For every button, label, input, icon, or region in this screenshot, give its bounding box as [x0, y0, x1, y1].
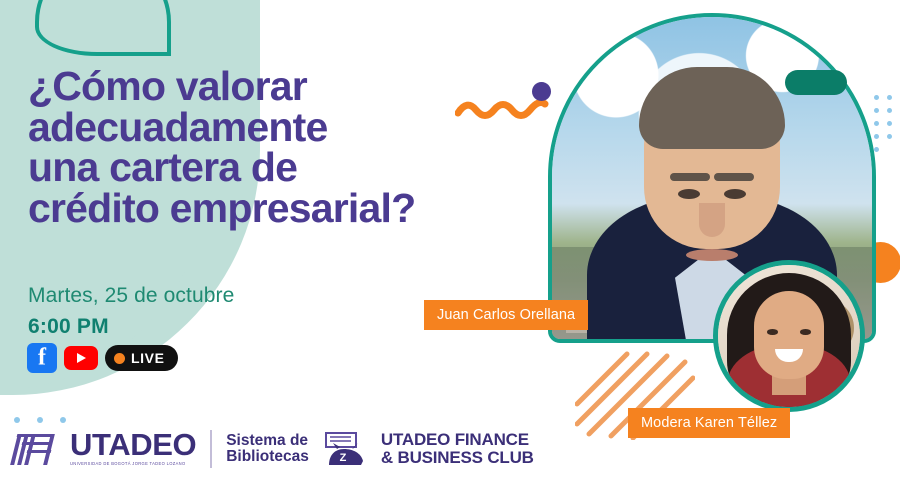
moderator-photo	[713, 260, 865, 412]
teal-pill-decoration	[785, 70, 847, 95]
facebook-icon[interactable]	[27, 343, 57, 373]
footer-logos: UTADEO UNIVERSIDAD DE BOGOTÁ JORGE TADEO…	[14, 430, 534, 468]
event-date: Martes, 25 de octubre	[28, 284, 234, 308]
arch-outline-decoration	[35, 0, 171, 56]
page-title: ¿Cómo valorar adecuadamente una cartera …	[28, 66, 588, 228]
sistema-line-1: Sistema de	[226, 433, 309, 449]
speaker-name-badge: Juan Carlos Orellana	[424, 300, 588, 330]
dot-grid-decoration	[874, 95, 900, 160]
moderator-head	[754, 291, 824, 379]
utadeo-name: UTADEO	[70, 432, 196, 459]
dot-row-decoration	[14, 417, 66, 423]
club-line-2: & BUSINESS CLUB	[381, 449, 534, 467]
live-badge: LIVE	[105, 345, 178, 371]
live-label: LIVE	[131, 350, 165, 366]
youtube-icon[interactable]	[64, 346, 98, 370]
event-banner: ¿Cómo valorar adecuadamente una cartera …	[0, 0, 900, 490]
utadeo-logo-icon	[14, 431, 56, 467]
sistema-bibliotecas-label: Sistema de Bibliotecas	[226, 433, 309, 466]
sistema-line-2: Bibliotecas	[226, 449, 309, 465]
streaming-platforms: LIVE	[27, 343, 178, 373]
logo-divider	[210, 430, 212, 468]
utadeo-wordmark: UTADEO UNIVERSIDAD DE BOGOTÁ JORGE TADEO…	[70, 432, 196, 466]
speaker-hair	[639, 67, 785, 149]
headline-line-3: una cartera de	[28, 147, 588, 188]
utadeo-tagline: UNIVERSIDAD DE BOGOTÁ JORGE TADEO LOZANO	[70, 461, 196, 466]
finance-club-label: UTADEO FINANCE & BUSINESS CLUB	[381, 431, 534, 466]
purple-dot-decoration	[532, 82, 551, 101]
svg-text:Z: Z	[340, 452, 347, 464]
event-time: 6:00 PM	[28, 315, 109, 339]
live-dot-icon	[114, 353, 125, 364]
moderator-name-badge: Modera Karen Téllez	[628, 408, 790, 438]
bull-logo-icon: Z	[323, 431, 367, 467]
headline-line-4: crédito empresarial?	[28, 188, 588, 229]
club-line-1: UTADEO FINANCE	[381, 431, 534, 449]
